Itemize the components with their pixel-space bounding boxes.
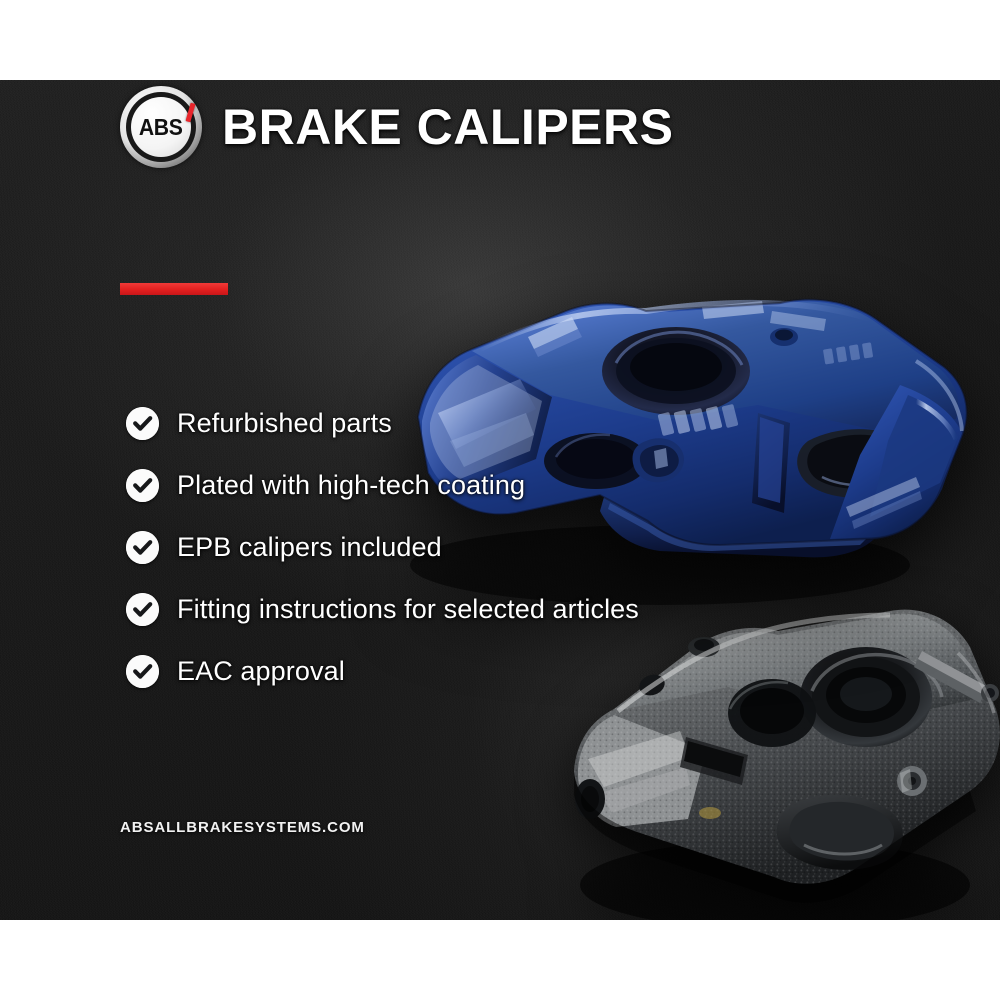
- feature-label: EAC approval: [177, 656, 345, 687]
- list-item: EPB calipers included: [126, 516, 639, 578]
- check-circle-icon: [126, 655, 159, 688]
- website-url: ABSALLBRAKESYSTEMS.COM: [120, 819, 365, 836]
- feature-label: Refurbished parts: [177, 408, 392, 439]
- feature-label: EPB calipers included: [177, 532, 442, 563]
- logo-inner-disc: ABS: [131, 97, 191, 157]
- logo-wordmark: ABS: [139, 116, 183, 139]
- feature-list: Refurbished parts Plated with high-tech …: [126, 392, 639, 702]
- bottom-white-margin: [0, 920, 1000, 1000]
- list-item: EAC approval: [126, 640, 639, 702]
- feature-label: Fitting instructions for selected articl…: [177, 594, 639, 625]
- list-item: Plated with high-tech coating: [126, 454, 639, 516]
- feature-label: Plated with high-tech coating: [177, 470, 525, 501]
- red-accent-rule: [120, 283, 228, 295]
- header: ABS BRAKE CALIPERS: [120, 86, 673, 168]
- check-circle-icon: [126, 593, 159, 626]
- check-circle-icon: [126, 531, 159, 564]
- abs-logo-icon: ABS: [120, 86, 202, 168]
- page-title: BRAKE CALIPERS: [222, 98, 673, 156]
- product-banner-image: ABS BRAKE CALIPERS Refurbished parts: [0, 0, 1000, 1000]
- list-item: Refurbished parts: [126, 392, 639, 454]
- check-circle-icon: [126, 407, 159, 440]
- top-white-margin: [0, 0, 1000, 80]
- list-item: Fitting instructions for selected articl…: [126, 578, 639, 640]
- check-circle-icon: [126, 469, 159, 502]
